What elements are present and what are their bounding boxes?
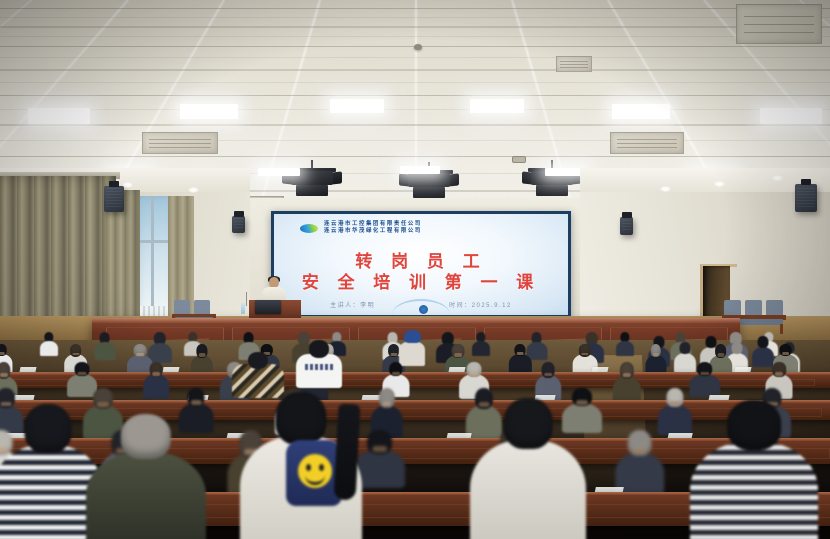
downlight-icon	[660, 186, 671, 192]
title-line-1: 转 岗 员 工	[274, 251, 568, 272]
ac-ceiling-vent	[610, 132, 684, 154]
audience-member	[645, 344, 666, 374]
wall-speaker-right	[795, 184, 817, 212]
audience-member	[191, 344, 213, 376]
hanging-light-rig-right	[528, 160, 576, 200]
audience-member	[40, 332, 58, 354]
wall-speaker-left	[104, 186, 124, 212]
lecture-hall-photo: 连云港市工控集团有限责任公司 连云港市华茂绿化工程有限公司 转 岗 员 工 安 …	[0, 0, 830, 539]
title-line-2: 安 全 培 训 第 一 课	[274, 272, 568, 293]
audience-member	[472, 332, 490, 354]
ceiling-panel-light	[180, 104, 238, 119]
audience-member	[615, 430, 664, 490]
light-jacket-attendee	[470, 398, 586, 539]
presenter-label: 主讲人：李明	[330, 300, 375, 309]
right-soffit	[580, 168, 830, 192]
ceiling-panel-light	[760, 108, 822, 124]
company-swoosh-logo	[300, 223, 318, 234]
ceiling-panel-light	[28, 108, 90, 124]
audience-member	[616, 332, 634, 354]
blue-cap-attendee	[399, 330, 425, 364]
downlight-icon	[188, 187, 199, 193]
projection-screen-frame: 连云港市工控集团有限责任公司 连云港市华茂绿化工程有限公司 转 岗 员 工 安 …	[271, 211, 571, 318]
downlight-icon	[714, 181, 725, 187]
water-bottle	[241, 303, 245, 314]
screen-company-names: 连云港市工控集团有限责任公司 连云港市华茂绿化工程有限公司	[324, 221, 422, 235]
microphone-stand	[246, 292, 247, 306]
audience-member	[143, 362, 169, 396]
striped-shirt-attendee-right	[690, 400, 818, 539]
ceiling-panel-light	[612, 104, 670, 119]
audience-member	[689, 362, 720, 394]
wall-speaker-right-far	[620, 217, 633, 235]
ceiling-panel-light	[470, 99, 524, 113]
dark-jacket-attendee	[86, 414, 206, 539]
presenter-laptop	[255, 300, 281, 314]
ac-ceiling-vent	[142, 132, 218, 154]
screen-title: 转 岗 员 工 安 全 培 训 第 一 课	[274, 251, 568, 293]
ceiling-panel-light	[258, 168, 300, 176]
screen-dot-decoration	[419, 305, 428, 314]
audience-member	[612, 362, 640, 400]
ac-ceiling-vent	[556, 56, 592, 72]
ceiling-panel-light	[400, 166, 440, 174]
ceiling-speaker-grille-2	[512, 156, 526, 163]
projection-screen: 连云港市工控集团有限责任公司 连云港市华茂绿化工程有限公司 转 岗 员 工 安 …	[274, 214, 568, 315]
ac-ceiling-vent	[736, 4, 822, 44]
downlight-icon	[772, 175, 783, 181]
audience-member	[94, 332, 115, 357]
audience-member	[657, 388, 691, 432]
smiley-backpack	[286, 440, 342, 506]
hanging-light-rig-left	[288, 160, 336, 200]
audience-member	[370, 388, 403, 434]
wall-speaker-left-far	[232, 216, 245, 233]
jersey-attendee	[296, 340, 342, 386]
audience-member	[509, 344, 531, 371]
audience-member	[536, 362, 562, 398]
date-label: 时间：2025.9.12	[449, 300, 512, 309]
audience-member	[752, 336, 774, 364]
corp-line-2: 连云港市华茂绿化工程有限公司	[324, 228, 422, 235]
smoke-detector-icon	[414, 44, 422, 50]
ceiling-panel-light	[330, 99, 384, 113]
